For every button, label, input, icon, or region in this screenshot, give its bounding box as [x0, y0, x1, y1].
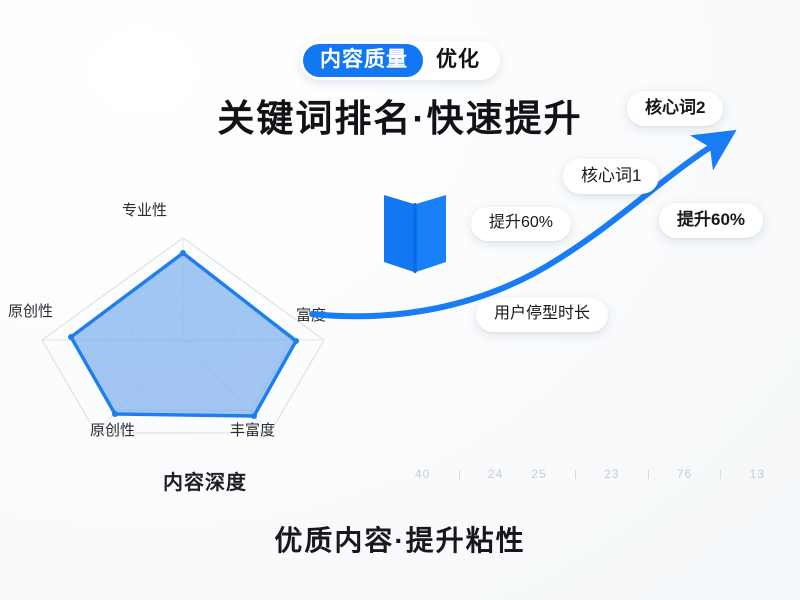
axis-tick-value: 13: [750, 467, 765, 481]
radar-axis-label-bottom-right: 丰富度: [230, 419, 275, 440]
infographic-canvas: 内容质量 优化 关键词排名·快速提升: [0, 0, 800, 600]
content-depth-label: 内容深度: [163, 466, 247, 495]
axis-tick-mark: [575, 470, 576, 479]
open-book-icon-svg: [368, 182, 462, 278]
axis-tick-strip: 40 24 25 23 76 13: [415, 463, 765, 485]
axis-tick-mark: [459, 470, 460, 479]
quality-badge: 内容质量 优化: [300, 41, 500, 80]
radar-chart-svg: [18, 220, 348, 450]
chip-keyword-1[interactable]: 核心词1: [563, 159, 659, 194]
chip-uplift-right[interactable]: 提升60%: [659, 203, 763, 238]
axis-tick-value: 24: [488, 467, 503, 481]
badge-main-label: 内容质量: [303, 44, 423, 77]
radar-chart: 专业性 富度 丰富度 原创性 原创性: [18, 220, 348, 450]
axis-tick-value: 40: [415, 467, 430, 481]
badge-sub-label: 优化: [423, 44, 497, 77]
radar-axis-label-top: 专业性: [122, 199, 167, 220]
radar-axis-label-left: 原创性: [8, 300, 53, 321]
axis-tick-mark: [648, 470, 649, 479]
chip-dwell-time[interactable]: 用户停型时长: [476, 298, 608, 332]
chip-uplift-left[interactable]: 提升60%: [471, 207, 571, 241]
radar-axis-label-bottom-left: 原创性: [90, 419, 135, 440]
axis-tick-mark: [720, 470, 721, 479]
axis-tick-value: 25: [531, 467, 546, 481]
axis-tick-value: 23: [604, 467, 619, 481]
chip-keyword-2[interactable]: 核心词2: [627, 91, 723, 126]
open-book-icon: [368, 182, 462, 278]
footer-title: 优质内容·提升粘性: [0, 519, 800, 559]
radar-data-area: [71, 253, 296, 416]
axis-tick-value: 76: [677, 467, 692, 481]
